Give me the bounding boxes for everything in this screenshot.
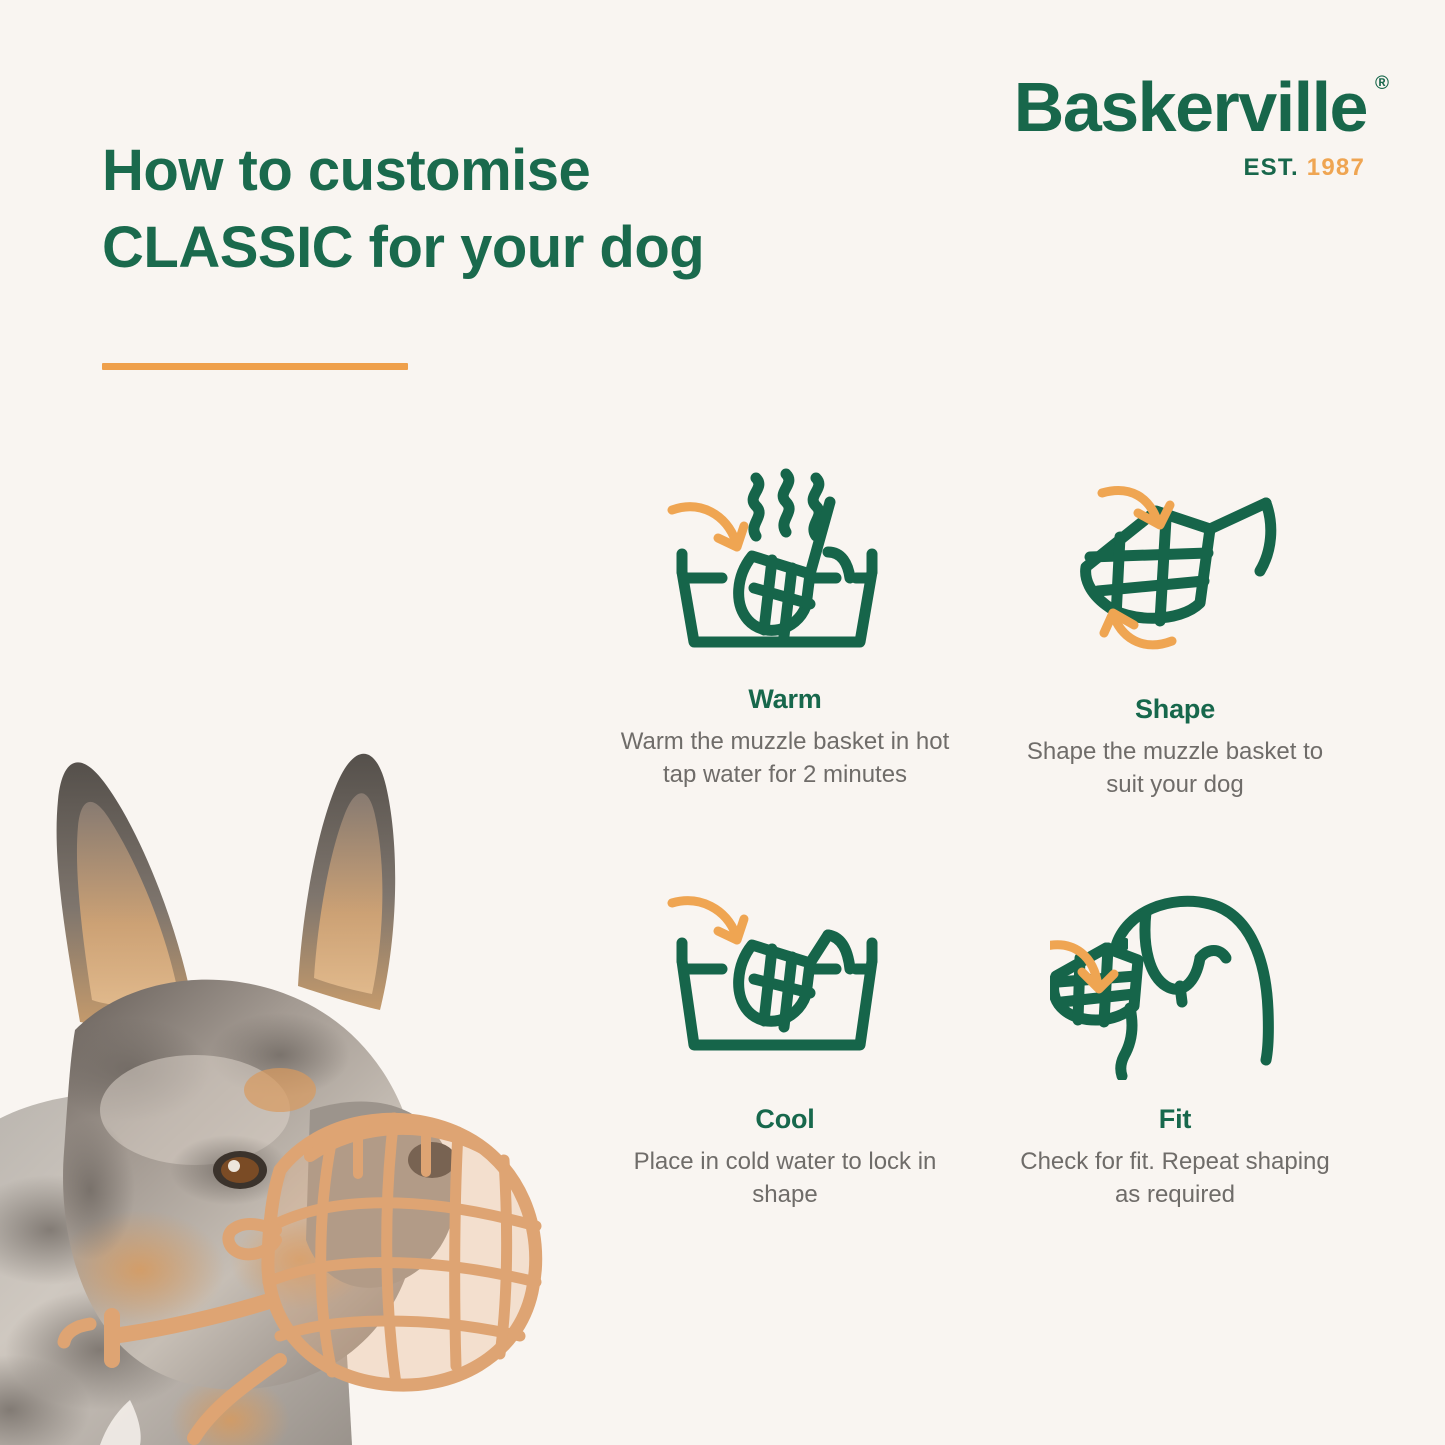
step-description-cool: Place in cold water to lock in shape [620,1146,950,1212]
step-title-shape: Shape [1135,694,1215,725]
poster-canvas: Baskerville® EST. 1987 How to customise … [0,0,1445,1445]
step-title-cool: Cool [755,1104,814,1135]
step-card-cool: Cool Place in cold water to lock in shap… [600,870,970,1280]
step-description-fit: Check for fit. Repeat shaping as require… [1010,1146,1340,1212]
page-title: How to customise CLASSIC for your dog [102,132,862,286]
brand-logo: Baskerville® EST. 1987 [1014,72,1367,180]
shape-basket-icon [1060,450,1290,690]
brand-established-year: 1987 [1307,154,1365,181]
step-description-warm: Warm the muzzle basket in hot tap water … [620,726,950,792]
page-title-line-2: CLASSIC for your dog [102,209,862,286]
cool-basin-icon [660,870,910,1100]
steps-grid: Warm Warm the muzzle basket in hot tap w… [600,450,1360,1280]
step-title-fit: Fit [1159,1104,1191,1135]
step-card-fit: Fit Check for fit. Repeat shaping as req… [990,870,1360,1280]
brand-wordmark: Baskerville® [1014,72,1367,142]
warm-basin-icon [660,450,910,680]
step-card-shape: Shape Shape the muzzle basket to suit yo… [990,450,1360,860]
dog-eye [213,1151,267,1189]
step-card-warm: Warm Warm the muzzle basket in hot tap w… [600,450,970,860]
page-title-line-1: How to customise [102,132,862,209]
fit-dog-head-icon [1050,870,1300,1100]
brand-established-word: EST. [1243,154,1298,181]
step-description-shape: Shape the muzzle basket to suit your dog [1010,736,1340,802]
registered-trademark-icon: ® [1375,74,1389,93]
brand-wordmark-text: Baskerville [1014,68,1367,146]
brand-established-line: EST. 1987 [1014,156,1365,180]
title-underline-rule [102,363,408,370]
dog-product-photo [0,470,580,1445]
step-title-warm: Warm [748,684,821,715]
